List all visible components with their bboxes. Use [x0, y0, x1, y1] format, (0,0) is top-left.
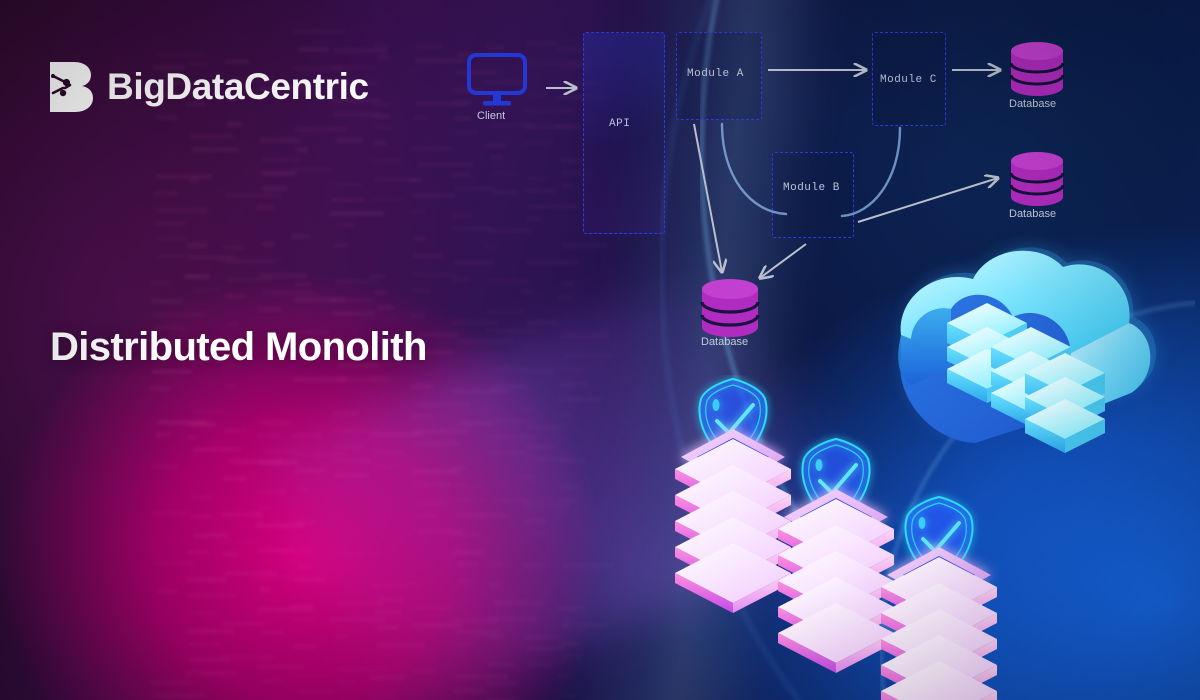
vignette-overlay — [0, 0, 1200, 700]
banner-canvas: API Module A Module B Module C — [0, 0, 1200, 700]
